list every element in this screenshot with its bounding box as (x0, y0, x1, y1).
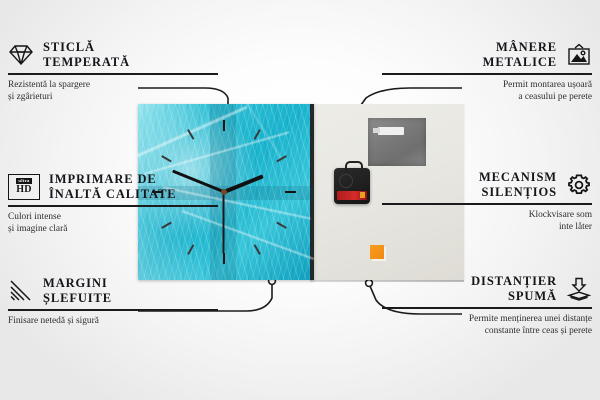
callout-header: MARGINI ȘLEFUITE (8, 276, 218, 305)
callout-divider (382, 307, 592, 309)
callout-subtext: Permite menținerea unei distanțe constan… (382, 314, 592, 337)
callout-header: ultra HD IMPRIMARE DE ÎNALTĂ CALITATE (8, 172, 218, 201)
metal-hanger-plate (368, 118, 426, 166)
callout-title: MÂNERE METALICE (483, 40, 557, 69)
diamond-icon (8, 43, 34, 67)
callout-header: STICLĂ TEMPERATĂ (8, 40, 218, 69)
callout-subtext: Finisare netedă și sigură (8, 316, 218, 328)
mechanism-hanger-loop (345, 161, 363, 172)
callout-divider (8, 205, 218, 207)
picture-hanger-icon (566, 43, 592, 67)
callout-subtext: Culori intense și imagine clară (8, 212, 218, 235)
hour-tick (224, 191, 296, 193)
clock-center-pin (221, 189, 227, 195)
callout-foam-spacer: DISTANȚIER SPUMĂ Permite menținerea unei… (382, 274, 592, 337)
callout-header: MECANISM SILENȚIOS (382, 170, 592, 199)
callout-title: MARGINI ȘLEFUITE (43, 276, 112, 305)
callout-divider (382, 73, 592, 75)
callout-divider (8, 309, 218, 311)
callout-metal-handles: MÂNERE METALICE Permit montarea ușoară a… (382, 40, 592, 103)
callout-subtext: Klockvisare som inte låter (382, 210, 592, 233)
callout-title: MECANISM SILENȚIOS (479, 170, 557, 199)
callout-title: DISTANȚIER SPUMĂ (471, 274, 557, 303)
hanger-slot-secondary (373, 128, 380, 133)
hanger-slot (378, 127, 404, 135)
callout-silent-mechanism: MECANISM SILENȚIOS Klockvisare som inte … (382, 170, 592, 233)
callout-title: IMPRIMARE DE ÎNALTĂ CALITATE (49, 172, 177, 201)
ultra-hd-icon: ultra HD (8, 174, 40, 200)
foam-spacer-pad (370, 245, 384, 259)
callout-title: STICLĂ TEMPERATĂ (43, 40, 130, 69)
callout-polished-edges: MARGINI ȘLEFUITE Finisare netedă și sigu… (8, 276, 218, 328)
clock-mechanism (334, 168, 370, 204)
callout-divider (8, 73, 218, 75)
callout-divider (382, 203, 592, 205)
callout-subtext: Permit montarea ușoară a ceasului pe per… (382, 80, 592, 103)
battery (337, 191, 367, 200)
foam-spacer-icon (566, 277, 592, 301)
gear-icon (566, 173, 592, 197)
callout-header: DISTANȚIER SPUMĂ (382, 274, 592, 303)
hour-tick (223, 120, 225, 192)
polished-edge-icon (8, 279, 34, 303)
callout-tempered-glass: STICLĂ TEMPERATĂ Rezistentă la spargere … (8, 40, 218, 103)
callout-header: MÂNERE METALICE (382, 40, 592, 69)
mechanism-dial (339, 174, 353, 188)
callout-subtext: Rezistentă la spargere și zgârieturi (8, 80, 218, 103)
callout-hd-print: ultra HD IMPRIMARE DE ÎNALTĂ CALITATE Cu… (8, 172, 218, 235)
infographic-canvas: STICLĂ TEMPERATĂ Rezistentă la spargere … (0, 0, 600, 400)
